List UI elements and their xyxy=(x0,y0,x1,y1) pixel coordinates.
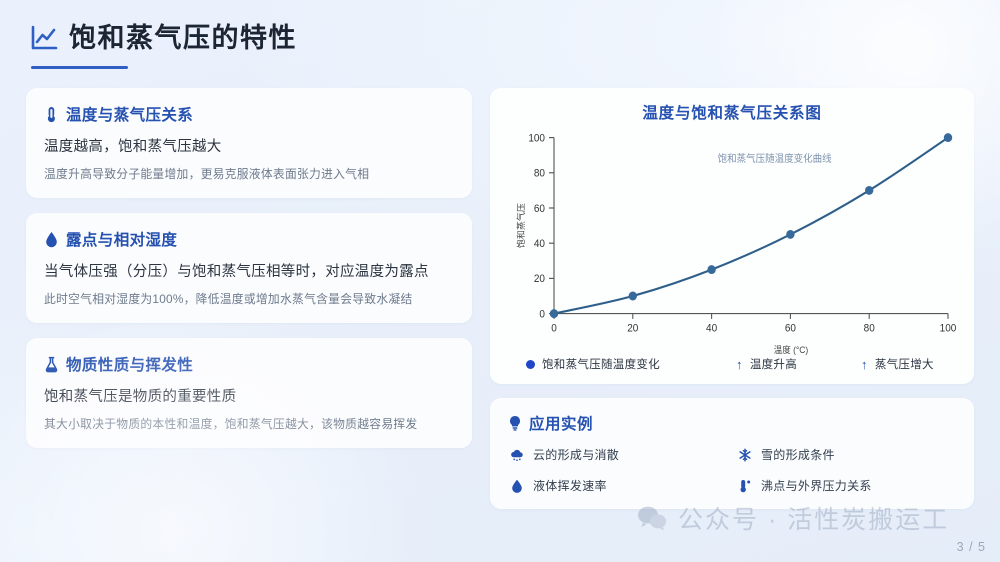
card-header: 露点与相对湿度 xyxy=(44,228,454,250)
water-drop-icon xyxy=(510,479,524,493)
line-chart-icon xyxy=(30,24,58,52)
arrow-up-icon: ↑ xyxy=(736,358,743,371)
info-card-volatility: 物质性质与挥发性 饱和蒸气压是物质的重要性质 其大小取决于物质的本性和温度，饱和… xyxy=(26,338,472,448)
svg-text:100: 100 xyxy=(940,323,957,334)
examples-grid: 云的形成与消散 雪的形成条件 xyxy=(508,446,956,494)
page-title: 饱和蒸气压的特性 xyxy=(69,25,297,52)
arrow-up-icon: ↑ xyxy=(861,358,868,371)
slide-canvas: 饱和蒸气压的特性 温度与蒸气压关系 温度越高，饱和蒸气压越大 温度升高导致分子能… xyxy=(0,0,1000,562)
svg-text:60: 60 xyxy=(785,323,796,334)
example-label: 雪的形成条件 xyxy=(761,446,835,463)
example-item-snow: 雪的形成条件 xyxy=(738,446,956,463)
legend-label: 温度升高 xyxy=(750,356,797,372)
svg-text:饱和蒸气压随温度变化曲线: 饱和蒸气压随温度变化曲线 xyxy=(718,152,832,165)
water-drop-icon xyxy=(44,231,59,248)
card-sub-text: 温度升高导致分子能量增加，更易克服液体表面张力进入气相 xyxy=(44,165,454,182)
examples-title: 应用实例 xyxy=(529,412,593,434)
info-card-temperature: 温度与蒸气压关系 温度越高，饱和蒸气压越大 温度升高导致分子能量增加，更易克服液… xyxy=(26,88,472,198)
svg-text:0: 0 xyxy=(539,309,545,320)
svg-text:40: 40 xyxy=(534,239,545,250)
left-column: 温度与蒸气压关系 温度越高，饱和蒸气压越大 温度升高导致分子能量增加，更易克服液… xyxy=(26,88,472,448)
legend-label: 饱和蒸气压随温度变化 xyxy=(542,356,660,372)
legend-item-pressure-rise: ↑ 蒸气压增大 xyxy=(861,356,934,372)
example-item-evaporation: 液体挥发速率 xyxy=(510,477,728,494)
chart-panel: 温度与饱和蒸气压关系图 020406080100020406080100温度 (… xyxy=(490,88,974,384)
card-sub-text: 其大小取决于物质的本性和温度，饱和蒸气压越大，该物质越容易挥发 xyxy=(44,415,454,432)
card-lead-text: 当气体压强（分压）与饱和蒸气压相等时，对应温度为露点 xyxy=(44,260,454,281)
example-label: 云的形成与消散 xyxy=(533,446,619,463)
svg-text:80: 80 xyxy=(864,323,875,334)
card-header: 物质性质与挥发性 xyxy=(44,353,454,375)
svg-text:20: 20 xyxy=(627,323,638,334)
title-underline xyxy=(31,66,128,69)
chart-legend: 饱和蒸气压随温度变化 ↑ 温度升高 ↑ 蒸气压增大 xyxy=(502,356,962,374)
example-label: 液体挥发速率 xyxy=(533,477,607,494)
example-label: 沸点与外界压力关系 xyxy=(761,477,872,494)
card-title: 温度与蒸气压关系 xyxy=(66,103,193,125)
snowflake-icon xyxy=(738,448,752,462)
info-card-dewpoint: 露点与相对湿度 当气体压强（分压）与饱和蒸气压相等时，对应温度为露点 此时空气相… xyxy=(26,213,472,323)
chart-plot-area: 020406080100020406080100温度 (°C)饱和蒸气压饱和蒸气… xyxy=(502,127,962,356)
examples-header: 应用实例 xyxy=(508,412,956,434)
card-title: 物质性质与挥发性 xyxy=(66,353,193,375)
thermometer-pressure-icon xyxy=(738,479,752,493)
flask-icon xyxy=(44,356,59,373)
legend-dot-icon xyxy=(526,360,535,369)
line-chart-svg: 020406080100020406080100温度 (°C)饱和蒸气压饱和蒸气… xyxy=(502,127,962,356)
svg-text:60: 60 xyxy=(534,204,545,215)
examples-panel: 应用实例 云的形成与消散 xyxy=(490,398,974,509)
svg-text:0: 0 xyxy=(551,323,557,334)
right-column: 温度与饱和蒸气压关系图 020406080100020406080100温度 (… xyxy=(490,88,974,509)
legend-item-series: 饱和蒸气压随温度变化 xyxy=(526,356,736,372)
legend-label: 蒸气压增大 xyxy=(875,356,934,372)
svg-text:80: 80 xyxy=(534,168,545,179)
chart-title: 温度与饱和蒸气压关系图 xyxy=(502,101,962,123)
example-item-cloud: 云的形成与消散 xyxy=(510,446,728,463)
legend-item-temp-rise: ↑ 温度升高 xyxy=(736,356,861,372)
svg-text:饱和蒸气压: 饱和蒸气压 xyxy=(515,203,526,248)
page-number: 3 / 5 xyxy=(957,540,986,554)
card-title: 露点与相对湿度 xyxy=(66,228,177,250)
example-item-boiling-point: 沸点与外界压力关系 xyxy=(738,477,956,494)
card-sub-text: 此时空气相对湿度为100%，降低温度或增加水蒸气含量会导致水凝结 xyxy=(44,290,454,307)
svg-text:温度 (°C): 温度 (°C) xyxy=(774,344,809,355)
svg-text:100: 100 xyxy=(528,133,545,144)
lightbulb-icon xyxy=(508,415,522,431)
card-lead-text: 饱和蒸气压是物质的重要性质 xyxy=(44,385,454,406)
card-header: 温度与蒸气压关系 xyxy=(44,103,454,125)
cloud-rain-icon xyxy=(510,448,524,462)
page-header: 饱和蒸气压的特性 xyxy=(30,24,297,52)
svg-text:40: 40 xyxy=(706,323,717,334)
svg-text:20: 20 xyxy=(534,274,545,285)
thermometer-icon xyxy=(44,106,59,123)
card-lead-text: 温度越高，饱和蒸气压越大 xyxy=(44,135,454,156)
